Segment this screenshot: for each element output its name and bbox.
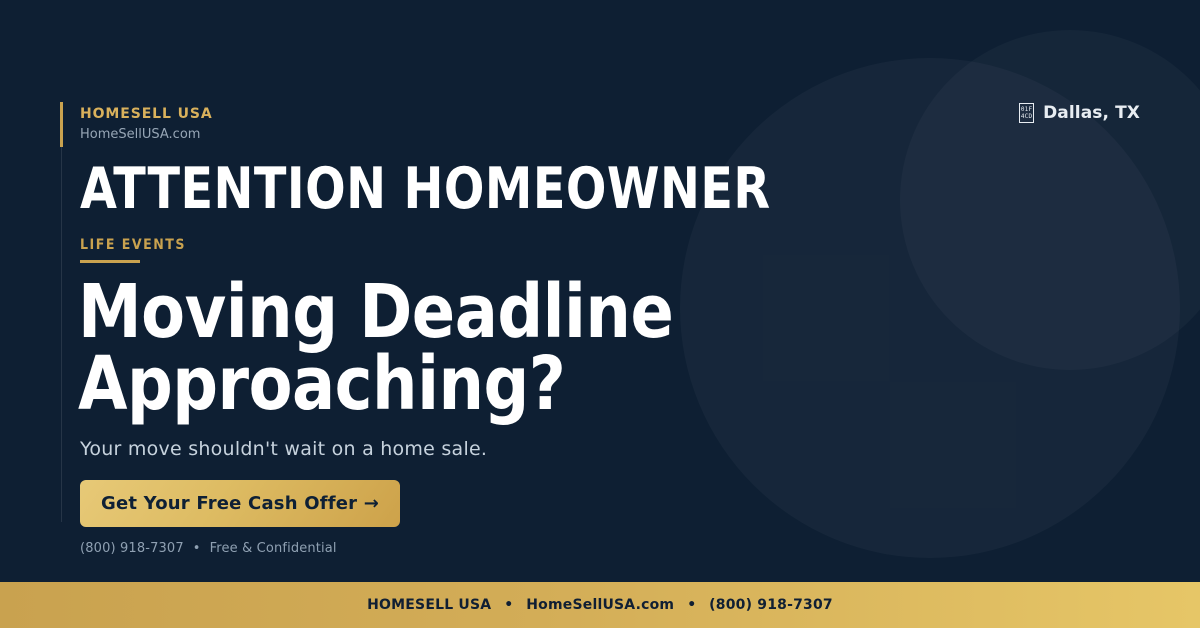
phone-number[interactable]: (800) 918-7307	[80, 541, 184, 556]
map-pin-icon-codepoint-bottom: 4CD	[1021, 113, 1032, 120]
brand-website: HomeSellUSA.com	[80, 125, 213, 145]
brand-name: HOMESELL USA	[80, 105, 213, 123]
reassurance-line: (800) 918-7307 • Free & Confidential	[80, 541, 337, 556]
attention-banner: ATTENTION HOMEOWNER	[80, 159, 771, 219]
reassurance-separator: •	[193, 541, 201, 556]
page-title: Moving Deadline Approaching?	[78, 276, 712, 420]
footer-separator-1: •	[504, 597, 513, 613]
map-pin-icon-codepoint-top: 01F	[1021, 106, 1032, 113]
headline-line-2: Approaching?	[78, 348, 712, 420]
map-pin-icon: 01F 4CD	[1019, 103, 1034, 123]
brand-block: HOMESELL USA HomeSellUSA.com	[80, 105, 213, 145]
footer-phone[interactable]: (800) 918-7307	[709, 597, 833, 613]
footer-bar: HOMESELL USA • HomeSellUSA.com • (800) 9…	[0, 582, 1200, 628]
headline-line-1: Moving Deadline	[78, 276, 712, 348]
footer-separator-2: •	[687, 597, 696, 613]
ad-content: HOMESELL USA HomeSellUSA.com 01F 4CD Dal…	[0, 0, 1200, 582]
ad-creative: HOMESELL USA HomeSellUSA.com 01F 4CD Dal…	[0, 0, 1200, 628]
footer-brand: HOMESELL USA	[367, 597, 491, 613]
reassurance-note: Free & Confidential	[210, 541, 337, 556]
subtitle: Your move shouldn't wait on a home sale.	[80, 436, 487, 462]
get-free-cash-offer-button[interactable]: Get Your Free Cash Offer →	[80, 480, 400, 527]
category-eyebrow: LIFE EVENTS	[80, 237, 186, 254]
location-label: Dallas, TX	[1043, 103, 1140, 123]
location-badge: 01F 4CD Dallas, TX	[1019, 103, 1140, 123]
footer-website[interactable]: HomeSellUSA.com	[526, 597, 674, 613]
eyebrow-underline	[80, 260, 140, 263]
